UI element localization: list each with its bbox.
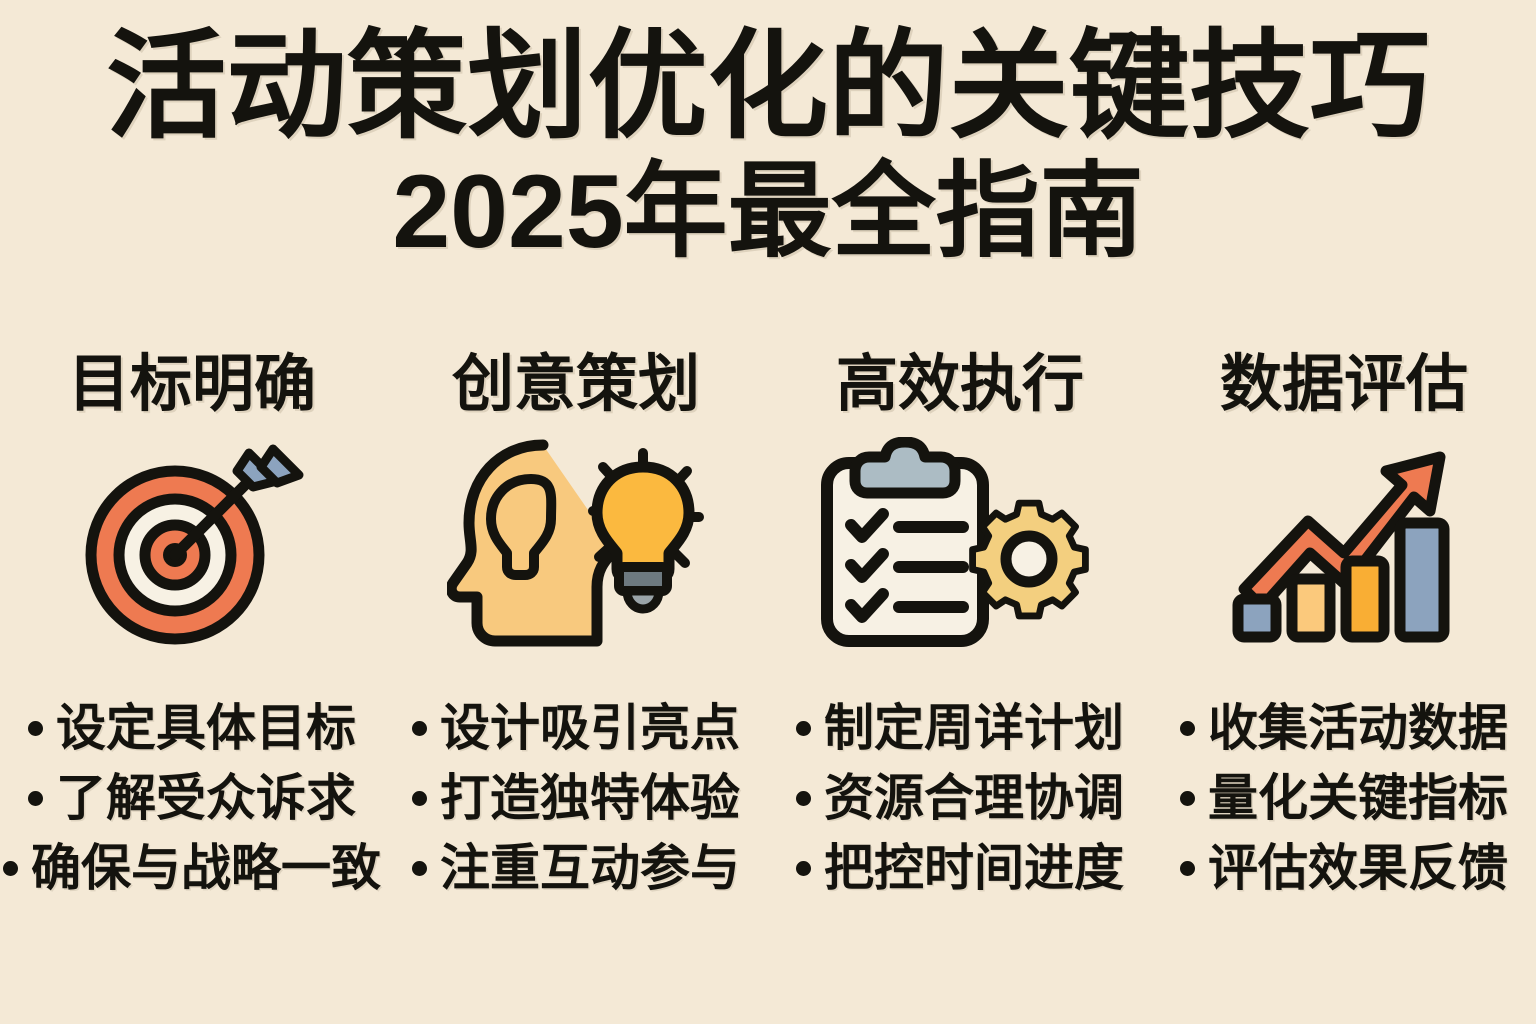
- list-item: 了解受众诉求: [28, 770, 356, 826]
- bullet-label: 注重互动参与: [440, 840, 740, 896]
- bullet-dot-icon: [28, 721, 43, 736]
- list-item: 设计吸引亮点: [412, 700, 740, 756]
- bullet-list-goal: 设定具体目标 了解受众诉求 确保与战略一致: [0, 700, 384, 896]
- list-item: 设定具体目标: [28, 700, 356, 756]
- clipboard-gear-icon: [817, 433, 1103, 655]
- pillar-column-goal: 目标明确: [0, 352, 384, 655]
- pillar-heading-analytics: 数据评估: [1220, 352, 1468, 417]
- bullet-label: 把控时间进度: [824, 840, 1124, 896]
- page-title-line-2: 2025年最全指南: [0, 160, 1536, 264]
- bullet-dot-icon: [3, 861, 18, 876]
- pillar-heading-execution: 高效执行: [836, 352, 1084, 417]
- bullet-label: 设计吸引亮点: [440, 700, 740, 756]
- bullet-dot-icon: [1180, 721, 1195, 736]
- bullet-label: 确保与战略一致: [31, 840, 381, 896]
- bullet-label: 打造独特体验: [440, 770, 740, 826]
- list-item: 资源合理协调: [796, 770, 1124, 826]
- bullet-list-analytics: 收集活动数据 量化关键指标 评估效果反馈: [1152, 700, 1536, 896]
- list-item: 制定周详计划: [796, 700, 1124, 756]
- page-title-block: 活动策划优化的关键技巧 2025年最全指南: [0, 0, 1536, 264]
- bullet-label: 评估效果反馈: [1208, 840, 1508, 896]
- bullet-label: 了解受众诉求: [56, 770, 356, 826]
- bullet-dot-icon: [1180, 861, 1195, 876]
- bullet-dot-icon: [412, 791, 427, 806]
- growth-bar-chart-icon: [1226, 433, 1462, 655]
- bullet-list-execution: 制定周详计划 资源合理协调 把控时间进度: [768, 700, 1152, 896]
- pillar-column-execution: 高效执行: [768, 352, 1152, 655]
- list-item: 评估效果反馈: [1180, 840, 1508, 896]
- bullet-label: 量化关键指标: [1208, 770, 1508, 826]
- target-arrow-icon: [77, 433, 307, 655]
- list-item: 收集活动数据: [1180, 700, 1508, 756]
- page-title-line-1: 活动策划优化的关键技巧: [0, 28, 1536, 146]
- bullet-dot-icon: [412, 721, 427, 736]
- bullet-list-creative: 设计吸引亮点 打造独特体验 注重互动参与: [384, 700, 768, 896]
- bullet-dot-icon: [796, 721, 811, 736]
- head-lightbulb-icon: [447, 433, 705, 655]
- bullet-dot-icon: [28, 791, 43, 806]
- bullet-label: 设定具体目标: [56, 700, 356, 756]
- bullet-label: 资源合理协调: [824, 770, 1124, 826]
- bullet-label: 收集活动数据: [1208, 700, 1508, 756]
- list-item: 注重互动参与: [412, 840, 740, 896]
- pillar-heading-creative: 创意策划: [452, 352, 700, 417]
- bullet-dot-icon: [796, 791, 811, 806]
- list-item: 确保与战略一致: [3, 840, 381, 896]
- pillar-columns: 目标明确 创意策划: [0, 352, 1536, 655]
- bullet-dot-icon: [412, 861, 427, 876]
- list-item: 把控时间进度: [796, 840, 1124, 896]
- pillar-column-analytics: 数据评估: [1152, 352, 1536, 655]
- pillar-column-creative: 创意策划: [384, 352, 768, 655]
- bullet-dot-icon: [796, 861, 811, 876]
- bullet-dot-icon: [1180, 791, 1195, 806]
- list-item: 量化关键指标: [1180, 770, 1508, 826]
- list-item: 打造独特体验: [412, 770, 740, 826]
- pillar-heading-goal: 目标明确: [68, 352, 316, 417]
- bullet-label: 制定周详计划: [824, 700, 1124, 756]
- bullet-lists: 设定具体目标 了解受众诉求 确保与战略一致 设计吸引亮点 打造独特体验 注重互动…: [0, 700, 1536, 896]
